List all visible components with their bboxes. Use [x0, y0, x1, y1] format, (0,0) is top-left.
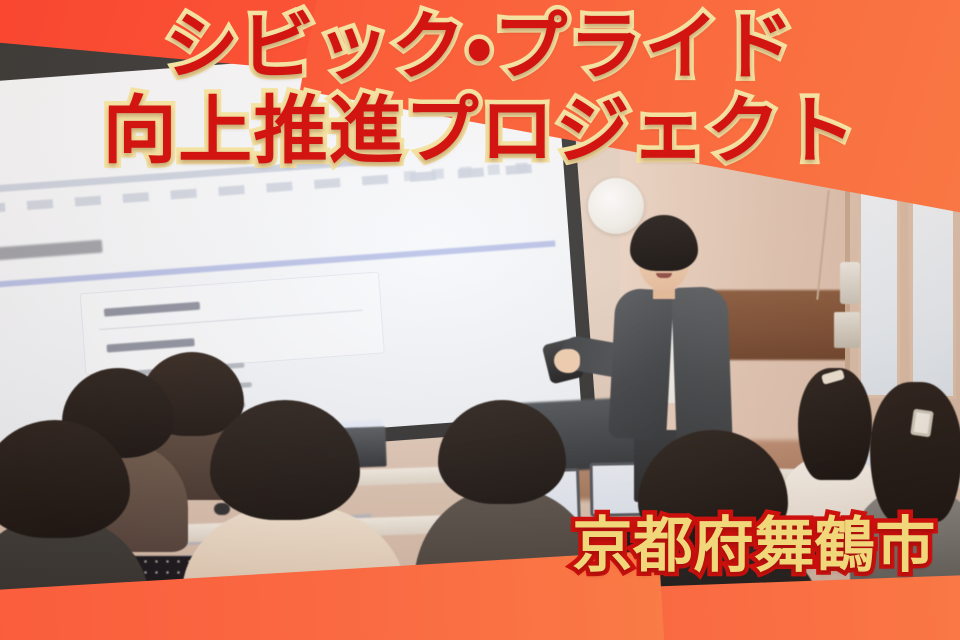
presenter-hair: [630, 215, 698, 271]
wall-phone-base: [834, 312, 860, 348]
door-window-pane: [910, 88, 956, 138]
presenter-jacket-left: [608, 288, 674, 441]
door-window-pane: [858, 92, 900, 140]
student-hair: [210, 400, 360, 520]
presenter-hand: [554, 349, 580, 373]
student-back-view: [430, 400, 590, 640]
student-hair: [0, 420, 130, 538]
student-back-view: [620, 430, 810, 640]
classroom-photo: [0, 0, 960, 640]
student-back-view: [196, 400, 406, 640]
student-torso: [182, 504, 406, 640]
student-side-view: [862, 382, 960, 562]
student-back-view: [0, 420, 150, 640]
student-hair: [438, 400, 566, 504]
document-title-text: [0, 240, 103, 262]
student-hair: [870, 382, 960, 522]
presenter-jacket-right: [671, 286, 733, 448]
door-window-pane: [910, 164, 956, 399]
door-window-pane: [858, 168, 900, 398]
doc-section-heading: [106, 338, 194, 352]
browser-toolbar-icons: [404, 162, 534, 181]
hair-clip: [910, 409, 933, 438]
student-hair: [638, 430, 788, 552]
banner-image: シビック・プライド 向上推進プロジェクト 京都府舞鶴市: [0, 0, 960, 640]
doc-section-heading: [104, 302, 200, 317]
student-torso: [414, 488, 600, 640]
presenter-mouth: [656, 273, 672, 278]
wall-phone-handset: [840, 262, 860, 304]
